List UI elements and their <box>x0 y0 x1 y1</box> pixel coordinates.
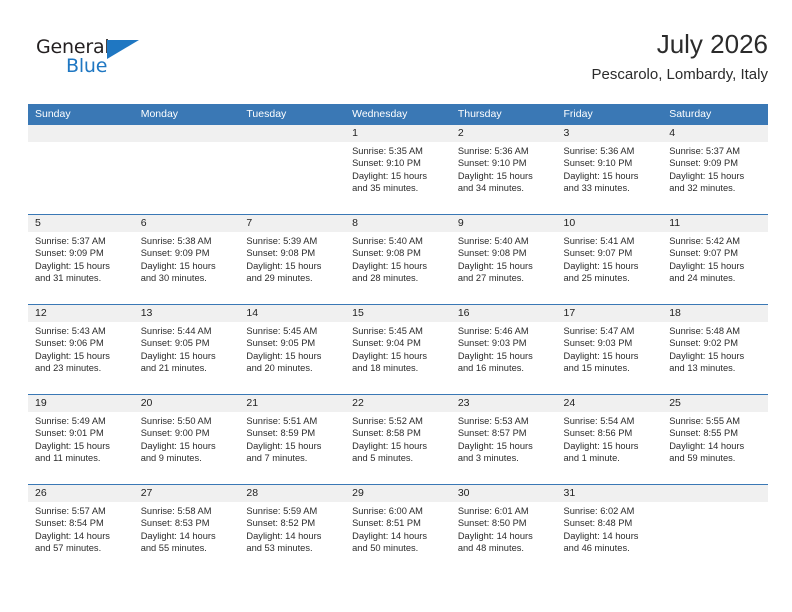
daylight-text-line2: and 3 minutes. <box>458 452 551 464</box>
day-number: 11 <box>662 215 768 232</box>
sunrise-text: Sunrise: 5:42 AM <box>669 235 762 247</box>
sunrise-text: Sunrise: 5:39 AM <box>246 235 339 247</box>
day-number <box>662 485 768 502</box>
daylight-text-line2: and 9 minutes. <box>141 452 234 464</box>
day-cell[interactable]: 27 Sunrise: 5:58 AM Sunset: 8:53 PM Dayl… <box>134 485 240 574</box>
logo-text-blue: Blue <box>66 55 107 77</box>
triangle-flag-icon <box>107 40 139 59</box>
sunrise-text: Sunrise: 5:37 AM <box>35 235 128 247</box>
day-number: 29 <box>345 485 451 502</box>
daylight-text-line2: and 53 minutes. <box>246 542 339 554</box>
day-number <box>134 125 240 142</box>
day-details: Sunrise: 5:47 AM Sunset: 9:03 PM Dayligh… <box>557 322 663 375</box>
day-cell[interactable]: 11 Sunrise: 5:42 AM Sunset: 9:07 PM Dayl… <box>662 215 768 304</box>
sunrise-text: Sunrise: 5:45 AM <box>352 325 445 337</box>
sunset-text: Sunset: 9:09 PM <box>35 247 128 259</box>
daylight-text-line2: and 34 minutes. <box>458 182 551 194</box>
sunrise-text: Sunrise: 5:57 AM <box>35 505 128 517</box>
sunset-text: Sunset: 9:08 PM <box>352 247 445 259</box>
sunset-text: Sunset: 9:04 PM <box>352 337 445 349</box>
daylight-text-line1: Daylight: 15 hours <box>352 260 445 272</box>
day-cell[interactable]: 10 Sunrise: 5:41 AM Sunset: 9:07 PM Dayl… <box>557 215 663 304</box>
day-cell[interactable]: 29 Sunrise: 6:00 AM Sunset: 8:51 PM Dayl… <box>345 485 451 574</box>
sunrise-text: Sunrise: 5:55 AM <box>669 415 762 427</box>
sunset-text: Sunset: 8:52 PM <box>246 517 339 529</box>
day-details: Sunrise: 5:37 AM Sunset: 9:09 PM Dayligh… <box>28 232 134 285</box>
day-number: 30 <box>451 485 557 502</box>
sunrise-text: Sunrise: 5:36 AM <box>458 145 551 157</box>
daylight-text-line1: Daylight: 14 hours <box>141 530 234 542</box>
day-number: 2 <box>451 125 557 142</box>
day-details: Sunrise: 5:38 AM Sunset: 9:09 PM Dayligh… <box>134 232 240 285</box>
sunset-text: Sunset: 9:10 PM <box>352 157 445 169</box>
day-details: Sunrise: 5:57 AM Sunset: 8:54 PM Dayligh… <box>28 502 134 555</box>
day-cell[interactable]: 13 Sunrise: 5:44 AM Sunset: 9:05 PM Dayl… <box>134 305 240 394</box>
sunrise-text: Sunrise: 5:35 AM <box>352 145 445 157</box>
sunrise-text: Sunrise: 5:44 AM <box>141 325 234 337</box>
day-number: 3 <box>557 125 663 142</box>
day-number: 18 <box>662 305 768 322</box>
sunrise-text: Sunrise: 5:49 AM <box>35 415 128 427</box>
day-cell[interactable]: 23 Sunrise: 5:53 AM Sunset: 8:57 PM Dayl… <box>451 395 557 484</box>
calendar-week-row: 1 Sunrise: 5:35 AM Sunset: 9:10 PM Dayli… <box>28 125 768 214</box>
day-details: Sunrise: 6:02 AM Sunset: 8:48 PM Dayligh… <box>557 502 663 555</box>
daylight-text-line1: Daylight: 15 hours <box>141 350 234 362</box>
daylight-text-line1: Daylight: 15 hours <box>352 170 445 182</box>
day-cell[interactable]: 6 Sunrise: 5:38 AM Sunset: 9:09 PM Dayli… <box>134 215 240 304</box>
day-cell[interactable] <box>28 125 134 214</box>
daylight-text-line1: Daylight: 15 hours <box>669 260 762 272</box>
daylight-text-line1: Daylight: 15 hours <box>35 260 128 272</box>
day-number: 5 <box>28 215 134 232</box>
day-details: Sunrise: 5:45 AM Sunset: 9:04 PM Dayligh… <box>345 322 451 375</box>
sunset-text: Sunset: 8:56 PM <box>564 427 657 439</box>
sunset-text: Sunset: 8:51 PM <box>352 517 445 529</box>
day-details: Sunrise: 5:48 AM Sunset: 9:02 PM Dayligh… <box>662 322 768 375</box>
day-number: 15 <box>345 305 451 322</box>
daylight-text-line1: Daylight: 15 hours <box>246 260 339 272</box>
sunset-text: Sunset: 8:53 PM <box>141 517 234 529</box>
daylight-text-line2: and 16 minutes. <box>458 362 551 374</box>
sunset-text: Sunset: 9:06 PM <box>35 337 128 349</box>
day-cell[interactable]: 16 Sunrise: 5:46 AM Sunset: 9:03 PM Dayl… <box>451 305 557 394</box>
daylight-text-line2: and 59 minutes. <box>669 452 762 464</box>
day-number: 14 <box>239 305 345 322</box>
calendar-week-row: 19 Sunrise: 5:49 AM Sunset: 9:01 PM Dayl… <box>28 394 768 484</box>
day-details: Sunrise: 5:52 AM Sunset: 8:58 PM Dayligh… <box>345 412 451 465</box>
sunrise-text: Sunrise: 5:58 AM <box>141 505 234 517</box>
daylight-text-line1: Daylight: 14 hours <box>352 530 445 542</box>
day-cell[interactable] <box>134 125 240 214</box>
day-number: 12 <box>28 305 134 322</box>
day-number: 4 <box>662 125 768 142</box>
daylight-text-line2: and 27 minutes. <box>458 272 551 284</box>
day-details: Sunrise: 5:43 AM Sunset: 9:06 PM Dayligh… <box>28 322 134 375</box>
sunset-text: Sunset: 8:54 PM <box>35 517 128 529</box>
daylight-text-line1: Daylight: 14 hours <box>35 530 128 542</box>
day-cell[interactable]: 22 Sunrise: 5:52 AM Sunset: 8:58 PM Dayl… <box>345 395 451 484</box>
daylight-text-line2: and 5 minutes. <box>352 452 445 464</box>
page-title: July 2026 <box>592 28 768 60</box>
daylight-text-line2: and 30 minutes. <box>141 272 234 284</box>
day-details: Sunrise: 5:41 AM Sunset: 9:07 PM Dayligh… <box>557 232 663 285</box>
day-details: Sunrise: 5:36 AM Sunset: 9:10 PM Dayligh… <box>557 142 663 195</box>
day-cell[interactable]: 26 Sunrise: 5:57 AM Sunset: 8:54 PM Dayl… <box>28 485 134 574</box>
calendar-week-row: 12 Sunrise: 5:43 AM Sunset: 9:06 PM Dayl… <box>28 304 768 394</box>
day-cell[interactable]: 18 Sunrise: 5:48 AM Sunset: 9:02 PM Dayl… <box>662 305 768 394</box>
sunrise-text: Sunrise: 5:36 AM <box>564 145 657 157</box>
sunset-text: Sunset: 9:05 PM <box>246 337 339 349</box>
day-cell[interactable]: 24 Sunrise: 5:54 AM Sunset: 8:56 PM Dayl… <box>557 395 663 484</box>
weekday-header-friday: Friday <box>557 104 663 125</box>
sunrise-text: Sunrise: 5:45 AM <box>246 325 339 337</box>
day-details: Sunrise: 5:40 AM Sunset: 9:08 PM Dayligh… <box>345 232 451 285</box>
weekday-header-row: Sunday Monday Tuesday Wednesday Thursday… <box>28 104 768 125</box>
daylight-text-line2: and 18 minutes. <box>352 362 445 374</box>
day-cell[interactable]: 19 Sunrise: 5:49 AM Sunset: 9:01 PM Dayl… <box>28 395 134 484</box>
daylight-text-line1: Daylight: 14 hours <box>246 530 339 542</box>
daylight-text-line1: Daylight: 15 hours <box>352 440 445 452</box>
day-number: 9 <box>451 215 557 232</box>
daylight-text-line1: Daylight: 15 hours <box>141 260 234 272</box>
daylight-text-line1: Daylight: 15 hours <box>35 440 128 452</box>
daylight-text-line2: and 55 minutes. <box>141 542 234 554</box>
sunset-text: Sunset: 9:03 PM <box>564 337 657 349</box>
day-number: 23 <box>451 395 557 412</box>
day-number: 19 <box>28 395 134 412</box>
day-number <box>239 125 345 142</box>
day-details: Sunrise: 5:58 AM Sunset: 8:53 PM Dayligh… <box>134 502 240 555</box>
day-cell[interactable]: 21 Sunrise: 5:51 AM Sunset: 8:59 PM Dayl… <box>239 395 345 484</box>
day-details: Sunrise: 5:54 AM Sunset: 8:56 PM Dayligh… <box>557 412 663 465</box>
sunrise-text: Sunrise: 6:02 AM <box>564 505 657 517</box>
sunset-text: Sunset: 9:01 PM <box>35 427 128 439</box>
general-blue-logo[interactable]: General Blue <box>36 36 146 82</box>
weekday-header-tuesday: Tuesday <box>239 104 345 125</box>
day-details: Sunrise: 5:37 AM Sunset: 9:09 PM Dayligh… <box>662 142 768 195</box>
calendar-grid: Sunday Monday Tuesday Wednesday Thursday… <box>28 104 768 574</box>
sunset-text: Sunset: 9:05 PM <box>141 337 234 349</box>
sunrise-text: Sunrise: 6:01 AM <box>458 505 551 517</box>
sunrise-text: Sunrise: 5:54 AM <box>564 415 657 427</box>
sunset-text: Sunset: 9:10 PM <box>564 157 657 169</box>
sunset-text: Sunset: 9:02 PM <box>669 337 762 349</box>
day-cell[interactable]: 2 Sunrise: 5:36 AM Sunset: 9:10 PM Dayli… <box>451 125 557 214</box>
daylight-text-line1: Daylight: 15 hours <box>352 350 445 362</box>
sunrise-text: Sunrise: 5:41 AM <box>564 235 657 247</box>
day-cell[interactable]: 4 Sunrise: 5:37 AM Sunset: 9:09 PM Dayli… <box>662 125 768 214</box>
sunset-text: Sunset: 8:58 PM <box>352 427 445 439</box>
page-header: General Blue July 2026 Pescarolo, Lombar… <box>28 28 768 98</box>
daylight-text-line1: Daylight: 15 hours <box>246 350 339 362</box>
daylight-text-line2: and 1 minute. <box>564 452 657 464</box>
day-number: 25 <box>662 395 768 412</box>
daylight-text-line2: and 7 minutes. <box>246 452 339 464</box>
day-number <box>28 125 134 142</box>
daylight-text-line1: Daylight: 15 hours <box>564 350 657 362</box>
sunset-text: Sunset: 9:08 PM <box>246 247 339 259</box>
sunrise-text: Sunrise: 5:52 AM <box>352 415 445 427</box>
day-cell[interactable]: 30 Sunrise: 6:01 AM Sunset: 8:50 PM Dayl… <box>451 485 557 574</box>
sunrise-text: Sunrise: 5:47 AM <box>564 325 657 337</box>
day-number: 20 <box>134 395 240 412</box>
day-details: Sunrise: 5:55 AM Sunset: 8:55 PM Dayligh… <box>662 412 768 465</box>
day-number: 21 <box>239 395 345 412</box>
sunrise-text: Sunrise: 5:59 AM <box>246 505 339 517</box>
day-cell[interactable]: 25 Sunrise: 5:55 AM Sunset: 8:55 PM Dayl… <box>662 395 768 484</box>
sunrise-text: Sunrise: 5:50 AM <box>141 415 234 427</box>
day-number: 13 <box>134 305 240 322</box>
sunset-text: Sunset: 8:48 PM <box>564 517 657 529</box>
daylight-text-line1: Daylight: 15 hours <box>669 170 762 182</box>
day-details: Sunrise: 5:50 AM Sunset: 9:00 PM Dayligh… <box>134 412 240 465</box>
day-details: Sunrise: 5:35 AM Sunset: 9:10 PM Dayligh… <box>345 142 451 195</box>
daylight-text-line2: and 23 minutes. <box>35 362 128 374</box>
day-details: Sunrise: 6:00 AM Sunset: 8:51 PM Dayligh… <box>345 502 451 555</box>
daylight-text-line2: and 28 minutes. <box>352 272 445 284</box>
sunrise-text: Sunrise: 5:40 AM <box>352 235 445 247</box>
calendar-page: General Blue July 2026 Pescarolo, Lombar… <box>0 0 792 612</box>
day-cell[interactable] <box>662 485 768 574</box>
daylight-text-line2: and 31 minutes. <box>35 272 128 284</box>
sunset-text: Sunset: 8:55 PM <box>669 427 762 439</box>
sunset-text: Sunset: 9:00 PM <box>141 427 234 439</box>
day-cell[interactable]: 9 Sunrise: 5:40 AM Sunset: 9:08 PM Dayli… <box>451 215 557 304</box>
daylight-text-line1: Daylight: 15 hours <box>246 440 339 452</box>
day-number: 28 <box>239 485 345 502</box>
day-cell[interactable]: 15 Sunrise: 5:45 AM Sunset: 9:04 PM Dayl… <box>345 305 451 394</box>
daylight-text-line2: and 50 minutes. <box>352 542 445 554</box>
day-details: Sunrise: 5:46 AM Sunset: 9:03 PM Dayligh… <box>451 322 557 375</box>
daylight-text-line1: Daylight: 15 hours <box>564 170 657 182</box>
day-cell[interactable]: 17 Sunrise: 5:47 AM Sunset: 9:03 PM Dayl… <box>557 305 663 394</box>
daylight-text-line1: Daylight: 15 hours <box>458 260 551 272</box>
day-number: 27 <box>134 485 240 502</box>
daylight-text-line2: and 32 minutes. <box>669 182 762 194</box>
daylight-text-line1: Daylight: 15 hours <box>141 440 234 452</box>
daylight-text-line2: and 11 minutes. <box>35 452 128 464</box>
day-details: Sunrise: 5:49 AM Sunset: 9:01 PM Dayligh… <box>28 412 134 465</box>
daylight-text-line1: Daylight: 15 hours <box>458 350 551 362</box>
day-number: 10 <box>557 215 663 232</box>
daylight-text-line1: Daylight: 14 hours <box>458 530 551 542</box>
sunset-text: Sunset: 9:09 PM <box>669 157 762 169</box>
weekday-header-saturday: Saturday <box>662 104 768 125</box>
sunset-text: Sunset: 9:07 PM <box>564 247 657 259</box>
daylight-text-line2: and 33 minutes. <box>564 182 657 194</box>
sunset-text: Sunset: 9:09 PM <box>141 247 234 259</box>
day-cell[interactable]: 20 Sunrise: 5:50 AM Sunset: 9:00 PM Dayl… <box>134 395 240 484</box>
day-cell[interactable]: 28 Sunrise: 5:59 AM Sunset: 8:52 PM Dayl… <box>239 485 345 574</box>
location-subtitle: Pescarolo, Lombardy, Italy <box>592 64 768 86</box>
day-details: Sunrise: 5:51 AM Sunset: 8:59 PM Dayligh… <box>239 412 345 465</box>
daylight-text-line2: and 29 minutes. <box>246 272 339 284</box>
daylight-text-line2: and 13 minutes. <box>669 362 762 374</box>
sunset-text: Sunset: 8:50 PM <box>458 517 551 529</box>
sunrise-text: Sunrise: 5:46 AM <box>458 325 551 337</box>
daylight-text-line1: Daylight: 15 hours <box>669 350 762 362</box>
calendar-week-row: 26 Sunrise: 5:57 AM Sunset: 8:54 PM Dayl… <box>28 484 768 574</box>
day-number: 26 <box>28 485 134 502</box>
day-details: Sunrise: 5:45 AM Sunset: 9:05 PM Dayligh… <box>239 322 345 375</box>
day-number: 31 <box>557 485 663 502</box>
daylight-text-line2: and 21 minutes. <box>141 362 234 374</box>
calendar-week-row: 5 Sunrise: 5:37 AM Sunset: 9:09 PM Dayli… <box>28 214 768 304</box>
day-number: 7 <box>239 215 345 232</box>
daylight-text-line1: Daylight: 14 hours <box>564 530 657 542</box>
sunset-text: Sunset: 8:59 PM <box>246 427 339 439</box>
sunset-text: Sunset: 9:10 PM <box>458 157 551 169</box>
sunset-text: Sunset: 9:08 PM <box>458 247 551 259</box>
sunrise-text: Sunrise: 5:51 AM <box>246 415 339 427</box>
sunrise-text: Sunrise: 5:40 AM <box>458 235 551 247</box>
day-cell[interactable]: 7 Sunrise: 5:39 AM Sunset: 9:08 PM Dayli… <box>239 215 345 304</box>
sunrise-text: Sunrise: 5:38 AM <box>141 235 234 247</box>
sunset-text: Sunset: 9:07 PM <box>669 247 762 259</box>
sunrise-text: Sunrise: 5:48 AM <box>669 325 762 337</box>
title-block: July 2026 Pescarolo, Lombardy, Italy <box>592 28 768 86</box>
day-details: Sunrise: 5:39 AM Sunset: 9:08 PM Dayligh… <box>239 232 345 285</box>
daylight-text-line2: and 25 minutes. <box>564 272 657 284</box>
daylight-text-line1: Daylight: 15 hours <box>458 440 551 452</box>
daylight-text-line2: and 57 minutes. <box>35 542 128 554</box>
day-number: 24 <box>557 395 663 412</box>
day-number: 17 <box>557 305 663 322</box>
day-number: 6 <box>134 215 240 232</box>
daylight-text-line2: and 46 minutes. <box>564 542 657 554</box>
daylight-text-line2: and 24 minutes. <box>669 272 762 284</box>
day-cell[interactable]: 12 Sunrise: 5:43 AM Sunset: 9:06 PM Dayl… <box>28 305 134 394</box>
day-details: Sunrise: 5:42 AM Sunset: 9:07 PM Dayligh… <box>662 232 768 285</box>
day-number: 22 <box>345 395 451 412</box>
day-cell[interactable]: 14 Sunrise: 5:45 AM Sunset: 9:05 PM Dayl… <box>239 305 345 394</box>
daylight-text-line2: and 20 minutes. <box>246 362 339 374</box>
day-cell[interactable]: 5 Sunrise: 5:37 AM Sunset: 9:09 PM Dayli… <box>28 215 134 304</box>
daylight-text-line1: Daylight: 15 hours <box>35 350 128 362</box>
daylight-text-line2: and 15 minutes. <box>564 362 657 374</box>
day-number: 16 <box>451 305 557 322</box>
daylight-text-line2: and 35 minutes. <box>352 182 445 194</box>
day-details: Sunrise: 5:44 AM Sunset: 9:05 PM Dayligh… <box>134 322 240 375</box>
day-cell[interactable] <box>239 125 345 214</box>
weekday-header-sunday: Sunday <box>28 104 134 125</box>
day-cell[interactable]: 31 Sunrise: 6:02 AM Sunset: 8:48 PM Dayl… <box>557 485 663 574</box>
day-details: Sunrise: 5:59 AM Sunset: 8:52 PM Dayligh… <box>239 502 345 555</box>
daylight-text-line1: Daylight: 15 hours <box>564 440 657 452</box>
sunset-text: Sunset: 9:03 PM <box>458 337 551 349</box>
weekday-header-monday: Monday <box>134 104 240 125</box>
day-cell[interactable]: 8 Sunrise: 5:40 AM Sunset: 9:08 PM Dayli… <box>345 215 451 304</box>
day-number: 8 <box>345 215 451 232</box>
day-cell[interactable]: 3 Sunrise: 5:36 AM Sunset: 9:10 PM Dayli… <box>557 125 663 214</box>
day-cell[interactable]: 1 Sunrise: 5:35 AM Sunset: 9:10 PM Dayli… <box>345 125 451 214</box>
sunrise-text: Sunrise: 5:43 AM <box>35 325 128 337</box>
sunset-text: Sunset: 8:57 PM <box>458 427 551 439</box>
day-details: Sunrise: 5:36 AM Sunset: 9:10 PM Dayligh… <box>451 142 557 195</box>
weekday-header-thursday: Thursday <box>451 104 557 125</box>
daylight-text-line2: and 48 minutes. <box>458 542 551 554</box>
day-details: Sunrise: 5:40 AM Sunset: 9:08 PM Dayligh… <box>451 232 557 285</box>
sunrise-text: Sunrise: 5:53 AM <box>458 415 551 427</box>
day-number: 1 <box>345 125 451 142</box>
day-details: Sunrise: 5:53 AM Sunset: 8:57 PM Dayligh… <box>451 412 557 465</box>
daylight-text-line1: Daylight: 14 hours <box>669 440 762 452</box>
sunrise-text: Sunrise: 6:00 AM <box>352 505 445 517</box>
weekday-header-wednesday: Wednesday <box>345 104 451 125</box>
sunrise-text: Sunrise: 5:37 AM <box>669 145 762 157</box>
day-details: Sunrise: 6:01 AM Sunset: 8:50 PM Dayligh… <box>451 502 557 555</box>
daylight-text-line1: Daylight: 15 hours <box>458 170 551 182</box>
daylight-text-line1: Daylight: 15 hours <box>564 260 657 272</box>
